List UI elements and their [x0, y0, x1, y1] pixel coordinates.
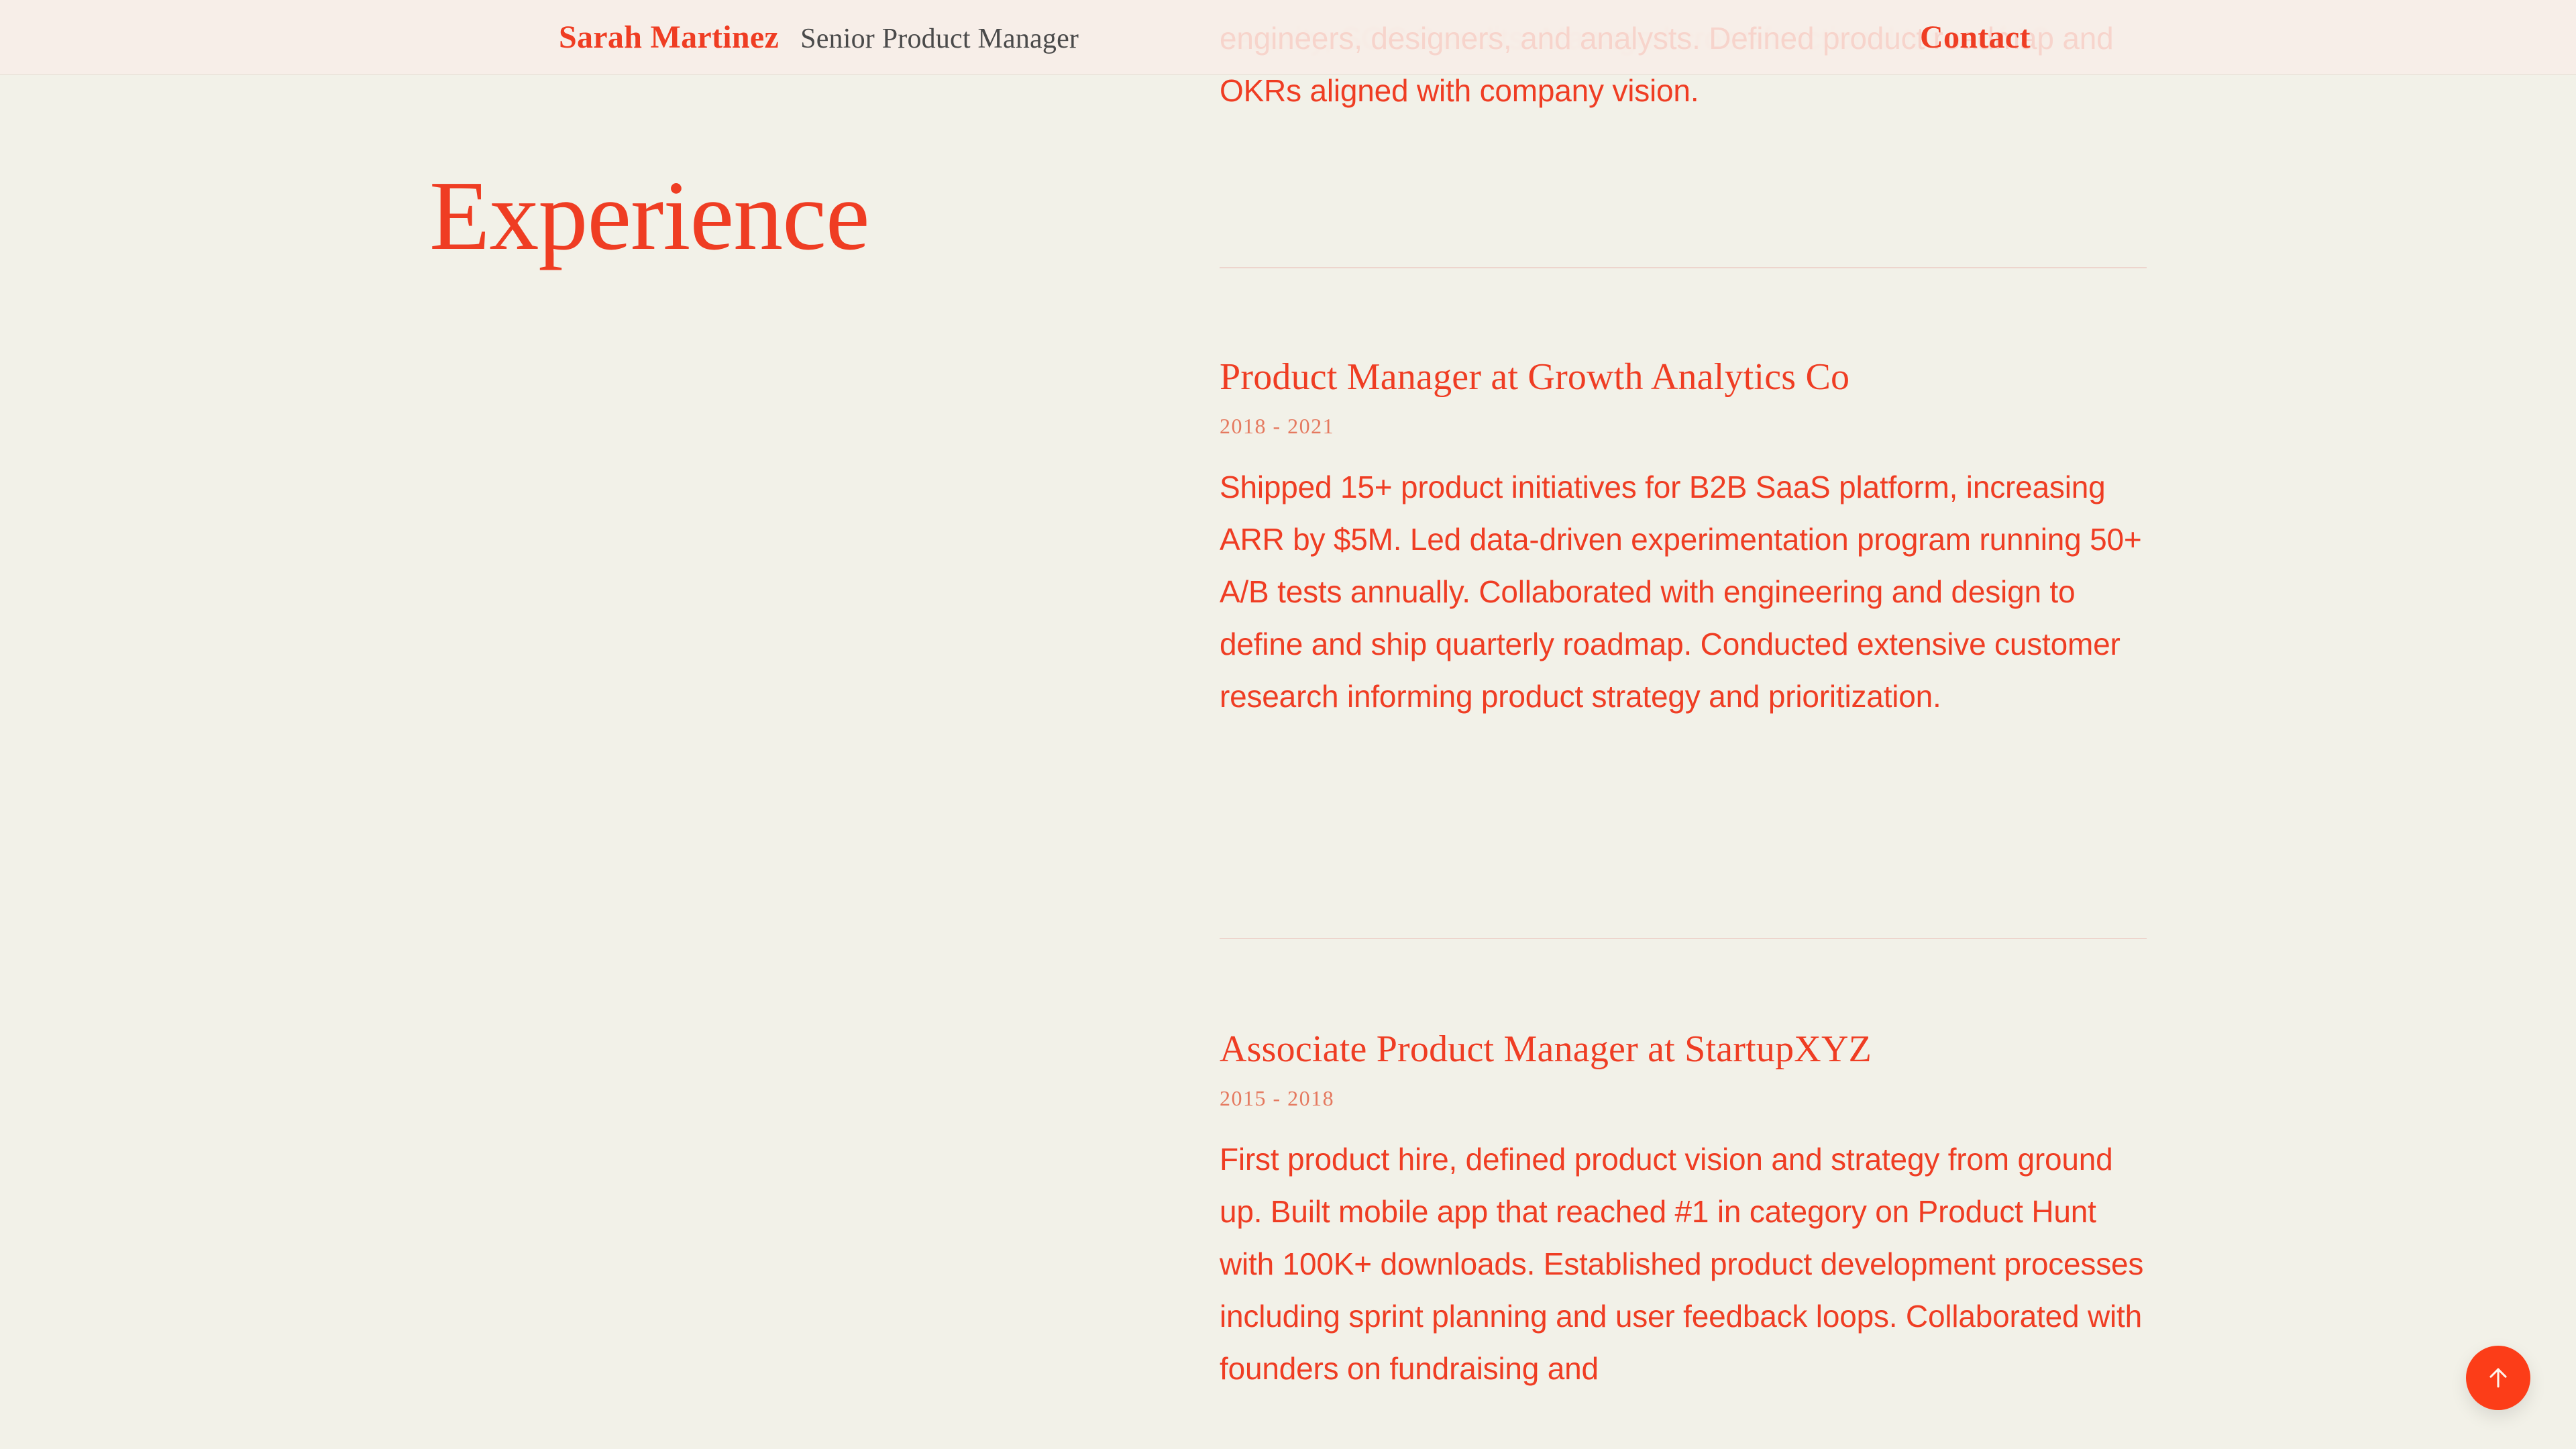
section-heading-column: Experience [429, 166, 1167, 266]
page-title: Experience [429, 166, 1167, 266]
contact-link[interactable]: Contact [1920, 19, 2031, 56]
brand[interactable]: Sarah Martinez Senior Product Manager [559, 19, 1079, 56]
entry-dates: 2015 - 2018 [1220, 1085, 2152, 1111]
arrow-up-icon [2483, 1363, 2513, 1393]
entry-description: Shipped 15+ product initiatives for B2B … [1220, 461, 2152, 722]
entry-description: First product hire, defined product visi… [1220, 1133, 2152, 1395]
entry-title: Product Manager at Growth Analytics Co [1220, 356, 2152, 398]
brand-role: Senior Product Manager [800, 23, 1079, 55]
page-root: security, SOC 2 audits. Managed cross-fu… [0, 0, 2576, 1449]
brand-name[interactable]: Sarah Martinez [559, 19, 779, 56]
experience-entry: Associate Product Manager at StartupXYZ … [1220, 1028, 2152, 1395]
scroll-to-top-button[interactable] [2466, 1346, 2530, 1410]
experience-entry: Product Manager at Growth Analytics Co 2… [1220, 356, 2152, 722]
entry-divider [1220, 267, 2147, 268]
site-header: Sarah Martinez Senior Product Manager Co… [0, 0, 2576, 75]
entry-divider [1220, 938, 2147, 939]
entry-title: Associate Product Manager at StartupXYZ [1220, 1028, 2152, 1071]
entry-dates: 2018 - 2021 [1220, 413, 2152, 439]
